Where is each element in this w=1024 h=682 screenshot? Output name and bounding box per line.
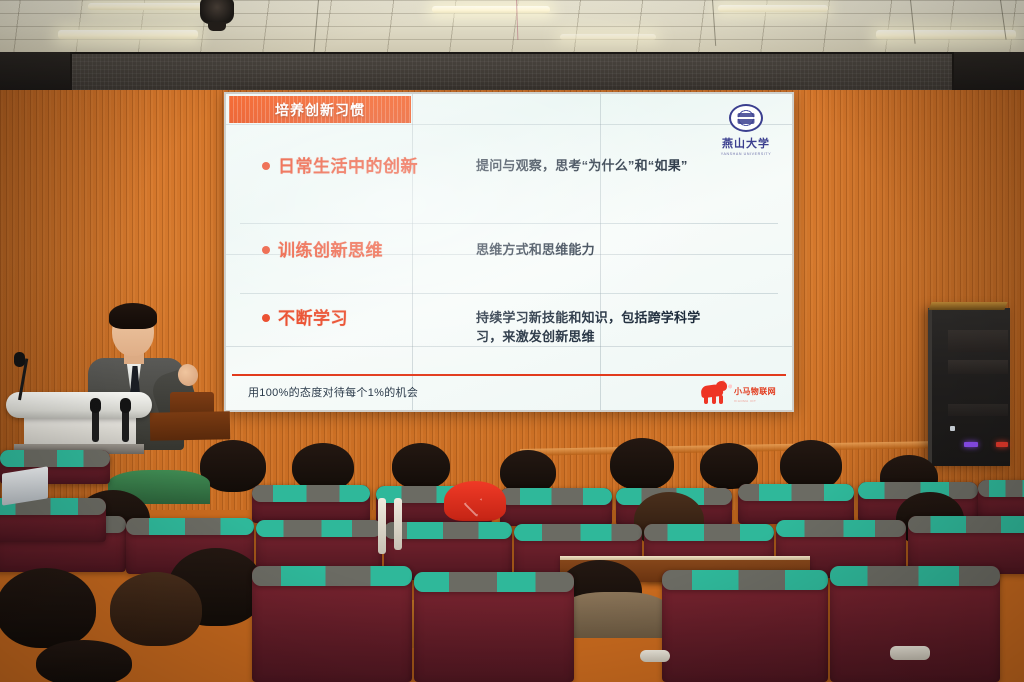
rack-module [948,330,1008,352]
seat-headrest [738,484,854,501]
bullet-dot-icon [262,314,270,322]
horse-icon [699,381,729,403]
audience-head [392,443,450,489]
seat-headrest [414,572,574,592]
slide-footer: 用100%的态度对待每个1%的机会 小马物联网 XIAOMA IOT [226,376,792,408]
microphone-head-icon [14,352,25,367]
seat-headrest [776,520,906,537]
status-led [996,442,1008,447]
auditorium-seat [414,572,574,682]
lecture-hall-photo: 培养创新习惯 燕山大学 YANSHAN UNIVERSITY 日常生活中的创新 … [0,0,1024,682]
projection-screen: 培养创新习惯 燕山大学 YANSHAN UNIVERSITY 日常生活中的创新 … [224,92,794,412]
slide-rows: 日常生活中的创新 提问与观察，思考“为什么”和“如果” 训练创新思维 思维方式和… [226,134,792,370]
stage-table [150,411,230,440]
lectern [6,392,156,452]
audience-head [700,443,758,489]
panel-seam [226,124,792,125]
seat-headrest [256,520,382,537]
microphone-head-icon [120,398,131,413]
slide-row-cue: 日常生活中的创新 [226,156,476,177]
seat-headrest [662,570,828,590]
seat-headrest [908,516,1024,533]
rack-module [948,360,1008,374]
audience-head [610,438,674,490]
auditorium-seat [252,485,370,523]
slide-title-banner: 培养创新习惯 [229,96,411,123]
audience-head [292,443,354,491]
rack-module [948,404,1008,416]
seat-divider [378,498,386,554]
lectern-body [24,414,136,448]
ceiling [0,0,1024,52]
auditorium-seat [252,566,412,682]
presenter-hair [109,303,157,329]
audience-shoulders [560,592,670,638]
sponsor-name: 小马物联网 [734,387,776,396]
seat-headrest [644,524,774,541]
seat-headrest [126,518,254,535]
audience-head [780,440,842,490]
slide-row: 训练创新思维 思维方式和思维能力 [226,224,792,294]
acoustic-panel-band [70,52,954,92]
ceiling-light [718,5,828,12]
footer-slogan: 用100%的态度对待每个1%的机会 [248,384,418,400]
seat-headrest [384,522,512,539]
bullet-dot-icon [262,246,270,254]
presentation-slide: 培养创新习惯 燕山大学 YANSHAN UNIVERSITY 日常生活中的创新 … [226,94,792,410]
bullet-dot-icon [262,162,270,170]
slide-row-desc: 提问与观察，思考“为什么”和“如果” [476,156,688,176]
sponsor-logo: 小马物联网 XIAOMA IOT [699,381,776,403]
audience-head-red-cap [444,481,506,521]
wall-band-left-cap [0,52,70,92]
status-led [964,442,978,447]
seat-divider [640,650,670,662]
auditorium-seat [662,570,828,682]
microphone-head-icon [90,398,101,413]
ceiling-light [58,30,198,39]
ceiling-projector [200,0,234,24]
slide-row-cue: 训练创新思维 [226,240,476,261]
university-seal-icon [729,104,763,132]
audience-head [36,640,132,682]
slide-title: 培养创新习惯 [275,100,365,120]
seat-divider [394,498,402,550]
wall-band-right-cap [954,52,1024,92]
seat-headrest [830,566,1000,586]
audience-head [0,568,96,648]
seat-headrest [500,488,612,505]
auditorium-seat [0,498,106,542]
slide-row: 日常生活中的创新 提问与观察，思考“为什么”和“如果” [226,134,792,224]
seat-divider [890,646,930,660]
rack-top-plate [928,302,1007,310]
ceiling-light [560,34,656,40]
ceiling-light [432,6,550,13]
seat-headrest [514,524,642,541]
auditorium-seat [500,488,612,526]
auditorium-seat [738,484,854,524]
ceiling-light [88,3,208,10]
slide-row-cue: 不断学习 [226,308,476,329]
av-equipment-rack [928,308,1010,466]
auditorium-seat [830,566,1000,682]
seat-headrest [978,480,1024,497]
ceiling-light [876,30,1016,39]
status-led [950,426,955,431]
slide-row-cue-text: 训练创新思维 [278,240,383,261]
slide-row-desc: 思维方式和思维能力 [476,240,595,260]
sponsor-subtitle: XIAOMA IOT [734,399,776,403]
auditorium-seat [978,480,1024,520]
seat-headrest [0,450,110,467]
slide-row-cue-text: 不断学习 [278,308,348,329]
audience-head [110,572,202,646]
seat-headrest [252,485,370,502]
slide-row-cue-text: 日常生活中的创新 [278,156,418,177]
slide-row-desc: 持续学习新技能和知识，包括跨学科学习，来激发创新思维 [476,308,724,347]
slide-row: 不断学习 持续学习新技能和知识，包括跨学科学习，来激发创新思维 [226,294,792,370]
seat-headrest [252,566,412,586]
